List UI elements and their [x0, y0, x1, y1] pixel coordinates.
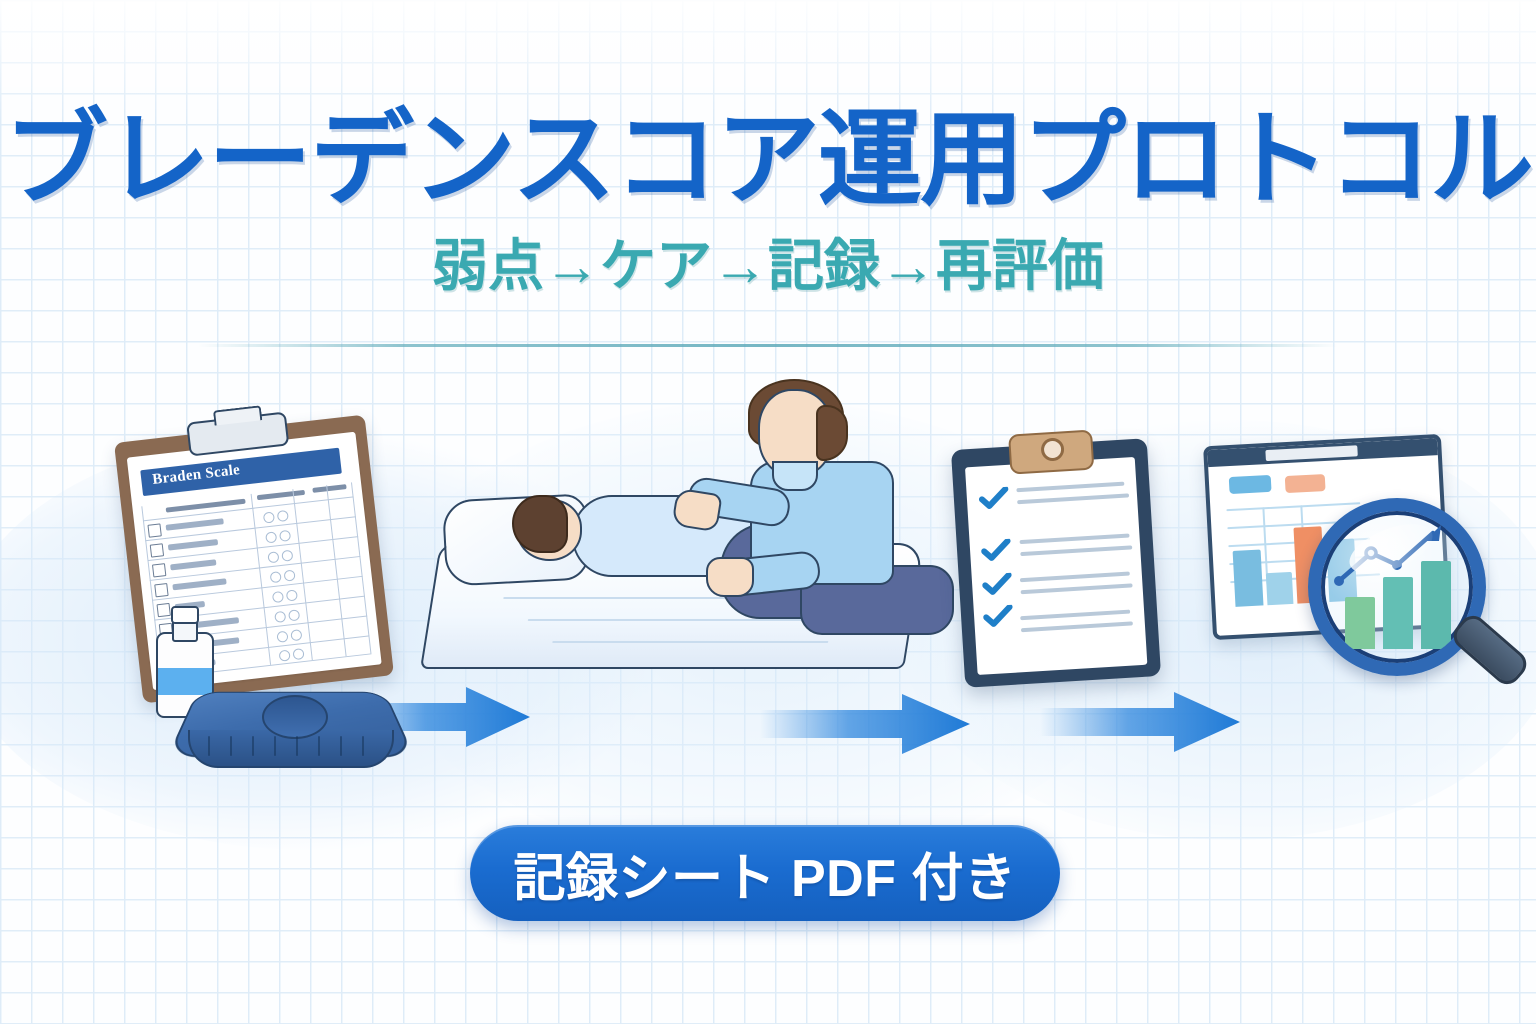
check-icon	[978, 487, 1009, 511]
step-record	[940, 432, 1190, 722]
magnifier-handle	[1448, 610, 1532, 690]
page-subtitle: 弱点→ケア→記録→再評価	[0, 212, 1536, 294]
dashboard-titlebar	[1207, 438, 1438, 467]
illustration-scene: Braden Scale	[0, 370, 1536, 840]
magnifier-icon	[1308, 498, 1486, 676]
clipboard-clip	[1008, 430, 1094, 475]
magnifier-lens	[1308, 498, 1486, 676]
step-care	[420, 375, 950, 735]
check-icon	[983, 605, 1014, 629]
chart-bar	[1233, 549, 1264, 606]
kpi-chip	[1229, 475, 1272, 494]
checklist-clipboard	[951, 438, 1161, 688]
chart-bar-magnified	[1345, 597, 1375, 649]
check-icon	[980, 539, 1011, 563]
header-divider	[198, 344, 1338, 347]
kpi-chip	[1285, 474, 1326, 493]
pdf-badge[interactable]: 記録シート PDF 付き	[470, 825, 1060, 921]
chart-bar	[1266, 572, 1294, 605]
page-title: ブレーデンスコア運用プロトコル	[0, 0, 1536, 212]
caregiver-upper-hand	[671, 488, 722, 533]
caregiver	[420, 375, 950, 675]
caregiver-hair-side	[816, 405, 848, 461]
poster-canvas: ブレーデンスコア運用プロトコル 弱点→ケア→記録→再評価	[0, 0, 1536, 1024]
caregiver-collar	[772, 461, 818, 491]
pdf-badge-label: 記録シート PDF 付き	[514, 836, 1017, 911]
braden-scale-heading: Braden Scale	[151, 462, 241, 489]
step-assessment: Braden Scale	[70, 400, 470, 800]
checklist-sheet	[965, 457, 1147, 675]
ring-cushion	[178, 672, 400, 798]
caregiver-lower-hand	[706, 557, 754, 597]
step-reevaluate	[1190, 420, 1510, 730]
check-icon	[982, 573, 1013, 597]
poster-header: ブレーデンスコア運用プロトコル 弱点→ケア→記録→再評価	[0, 0, 1536, 294]
